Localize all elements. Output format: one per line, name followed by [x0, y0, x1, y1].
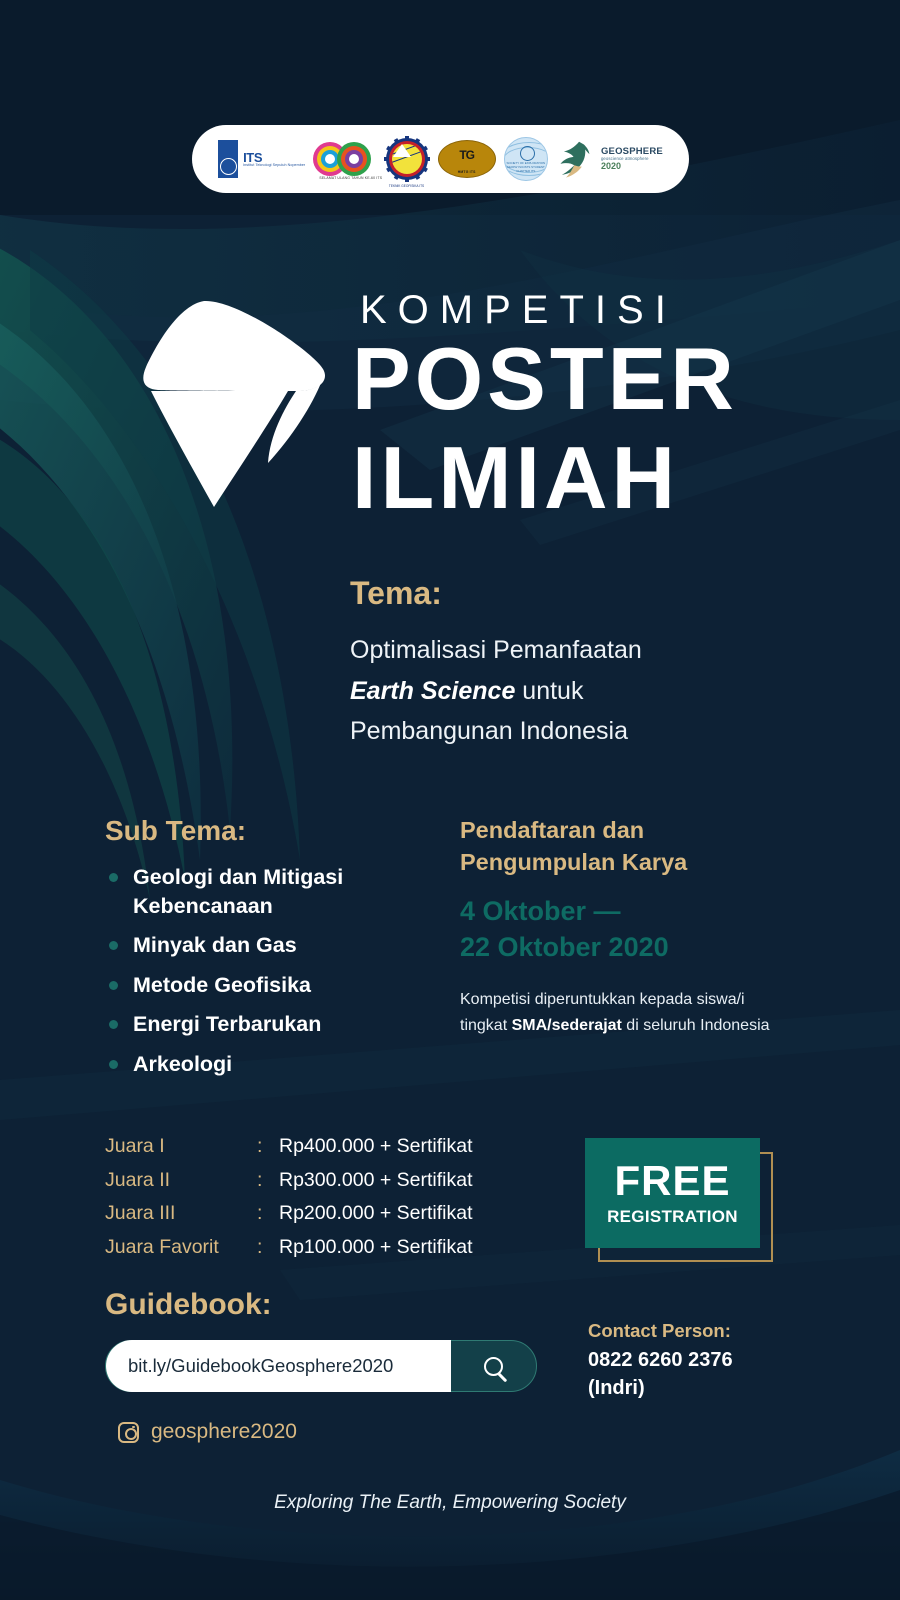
antenna-icon — [393, 144, 411, 157]
tema-line-2-rest: untuk — [515, 677, 583, 705]
free-registration-badge: FREE REGISTRATION — [585, 1138, 760, 1248]
sub-tema-list: Geologi dan Mitigasi Kebencanaan Minyak … — [105, 863, 435, 1079]
registration-heading: Pendaftaran dan Pengumpulan Karya — [460, 815, 790, 879]
registration-note-bold: SMA/sederajat — [512, 1017, 622, 1034]
headline-kicker: KOMPETISI — [360, 288, 677, 333]
table-row: Juara Favorit : Rp100.000 + Sertifikat — [105, 1231, 473, 1265]
its-seal-block — [218, 140, 238, 178]
geosphere-2020-logo: GEOSPHERE geoscience atmosphere 2020 — [556, 139, 663, 179]
prize-separator: : — [257, 1197, 279, 1231]
registration-heading-line-1: Pendaftaran dan — [460, 815, 790, 847]
tema-heading: Tema: — [350, 575, 780, 612]
geosphere-wordmark: GEOSPHERE geoscience atmosphere 2020 — [601, 147, 663, 171]
guidebook-search-bar[interactable]: bit.ly/GuidebookGeosphere2020 — [105, 1340, 537, 1392]
guidebook-url-text: bit.ly/GuidebookGeosphere2020 — [128, 1355, 393, 1377]
registration-section: Pendaftaran dan Pengumpulan Karya 4 Okto… — [460, 815, 790, 1039]
instagram-handle-text: geosphere2020 — [151, 1420, 297, 1444]
registration-note: Kompetisi diperuntukkan kepada siswa/i t… — [460, 987, 790, 1039]
its-seal-icon — [220, 158, 237, 175]
contact-phone: 0822 6260 2376 — [588, 1346, 733, 1374]
seg-subtitle: SOCIETY OF EXPLORATION GEOPHYSICISTS STU… — [505, 162, 547, 174]
registration-heading-line-2: Pengumpulan Karya — [460, 847, 790, 879]
prize-name: Juara I — [105, 1130, 257, 1164]
prize-name: Juara Favorit — [105, 1231, 257, 1265]
teknik-geofisika-its-logo: TEKNIK GEOFISIKA ITS — [384, 136, 430, 182]
guidebook-heading: Guidebook: — [105, 1288, 537, 1322]
prize-separator: : — [257, 1130, 279, 1164]
volcano-cone-icon — [118, 295, 348, 525]
guidebook-section: Guidebook: bit.ly/GuidebookGeosphere2020 — [105, 1288, 537, 1392]
its-60-subtitle: SELAMAT ULANG TAHUN KE-60 ITS — [319, 176, 382, 180]
table-row: Juara I : Rp400.000 + Sertifikat — [105, 1130, 473, 1164]
prizes-table: Juara I : Rp400.000 + Sertifikat Juara I… — [105, 1130, 473, 1264]
prize-separator: : — [257, 1164, 279, 1198]
list-item: Arkeologi — [105, 1050, 435, 1079]
headline-title: POSTER ILMIAH — [352, 330, 738, 527]
geosphere-year: 2020 — [601, 162, 663, 171]
bird-icon — [556, 139, 598, 179]
prize-value: Rp100.000 + Sertifikat — [279, 1231, 473, 1265]
registration-dates: 4 Oktober — 22 Oktober 2020 — [460, 893, 790, 965]
footer-tagline: Exploring The Earth, Empowering Society — [0, 1492, 900, 1514]
its-logo-title: ITS — [243, 151, 305, 164]
prize-value: Rp300.000 + Sertifikat — [279, 1164, 473, 1198]
registration-date-line-2: 22 Oktober 2020 — [460, 929, 790, 965]
list-item: Minyak dan Gas — [105, 931, 435, 960]
guidebook-search-button[interactable] — [451, 1340, 536, 1392]
list-item: Geologi dan Mitigasi Kebencanaan — [105, 863, 435, 920]
instagram-handle[interactable]: geosphere2020 — [118, 1420, 297, 1444]
contact-section: Contact Person: 0822 6260 2376 (Indri) — [588, 1320, 733, 1403]
headline-line-2: ILMIAH — [352, 429, 738, 528]
sub-tema-heading: Sub Tema: — [105, 815, 435, 847]
contact-name: (Indri) — [588, 1374, 733, 1402]
registration-date-line-1: 4 Oktober — — [460, 893, 790, 929]
free-registration-big-text: FREE — [614, 1160, 730, 1202]
prize-value: Rp200.000 + Sertifikat — [279, 1197, 473, 1231]
hmtg-logo: TG HMTG ITS — [438, 140, 496, 178]
sub-tema-section: Sub Tema: Geologi dan Mitigasi Kebencana… — [105, 815, 435, 1090]
teknik-geofisika-subtitle: TEKNIK GEOFISIKA ITS — [380, 184, 434, 188]
hmtg-monogram: TG — [438, 149, 496, 161]
its-logo: ITS Institut Teknologi Sepuluh Nopember — [218, 140, 305, 178]
tema-emphasis: Earth Science — [350, 677, 515, 705]
tema-line-2: Earth Science untuk — [350, 671, 780, 712]
sponsor-logo-strip: ITS Institut Teknologi Sepuluh Nopember … — [192, 125, 689, 193]
search-icon — [484, 1357, 503, 1376]
tema-section: Tema: Optimalisasi Pemanfaatan Earth Sci… — [350, 575, 780, 752]
instagram-icon — [118, 1422, 139, 1443]
tema-line-1: Optimalisasi Pemanfaatan — [350, 630, 780, 671]
prize-separator: : — [257, 1231, 279, 1265]
hmtg-subtitle: HMTG ITS — [438, 170, 496, 174]
prize-name: Juara III — [105, 1197, 257, 1231]
registration-note-post: di seluruh Indonesia — [622, 1017, 770, 1034]
headline-line-1: POSTER — [352, 330, 738, 429]
contact-details: 0822 6260 2376 (Indri) — [588, 1346, 733, 1403]
list-item: Metode Geofisika — [105, 971, 435, 1000]
table-row: Juara II : Rp300.000 + Sertifikat — [105, 1164, 473, 1198]
tema-line-3: Pembangunan Indonesia — [350, 711, 780, 752]
prize-value: Rp400.000 + Sertifikat — [279, 1130, 473, 1164]
seg-circle-icon — [520, 146, 535, 161]
table-row: Juara III : Rp200.000 + Sertifikat — [105, 1197, 473, 1231]
tema-body: Optimalisasi Pemanfaatan Earth Science u… — [350, 630, 780, 752]
contact-heading: Contact Person: — [588, 1320, 733, 1342]
guidebook-url-field[interactable]: bit.ly/GuidebookGeosphere2020 — [106, 1340, 451, 1392]
free-registration-small-text: REGISTRATION — [607, 1207, 738, 1227]
prize-name: Juara II — [105, 1164, 257, 1198]
seg-sc-its-logo: SOCIETY OF EXPLORATION GEOPHYSICISTS STU… — [504, 137, 548, 181]
list-item: Energi Terbarukan — [105, 1010, 435, 1039]
its-60-anniversary-logo: SELAMAT ULANG TAHUN KE-60 ITS — [313, 139, 375, 179]
its-logo-subtitle: Institut Teknologi Sepuluh Nopember — [243, 164, 305, 168]
